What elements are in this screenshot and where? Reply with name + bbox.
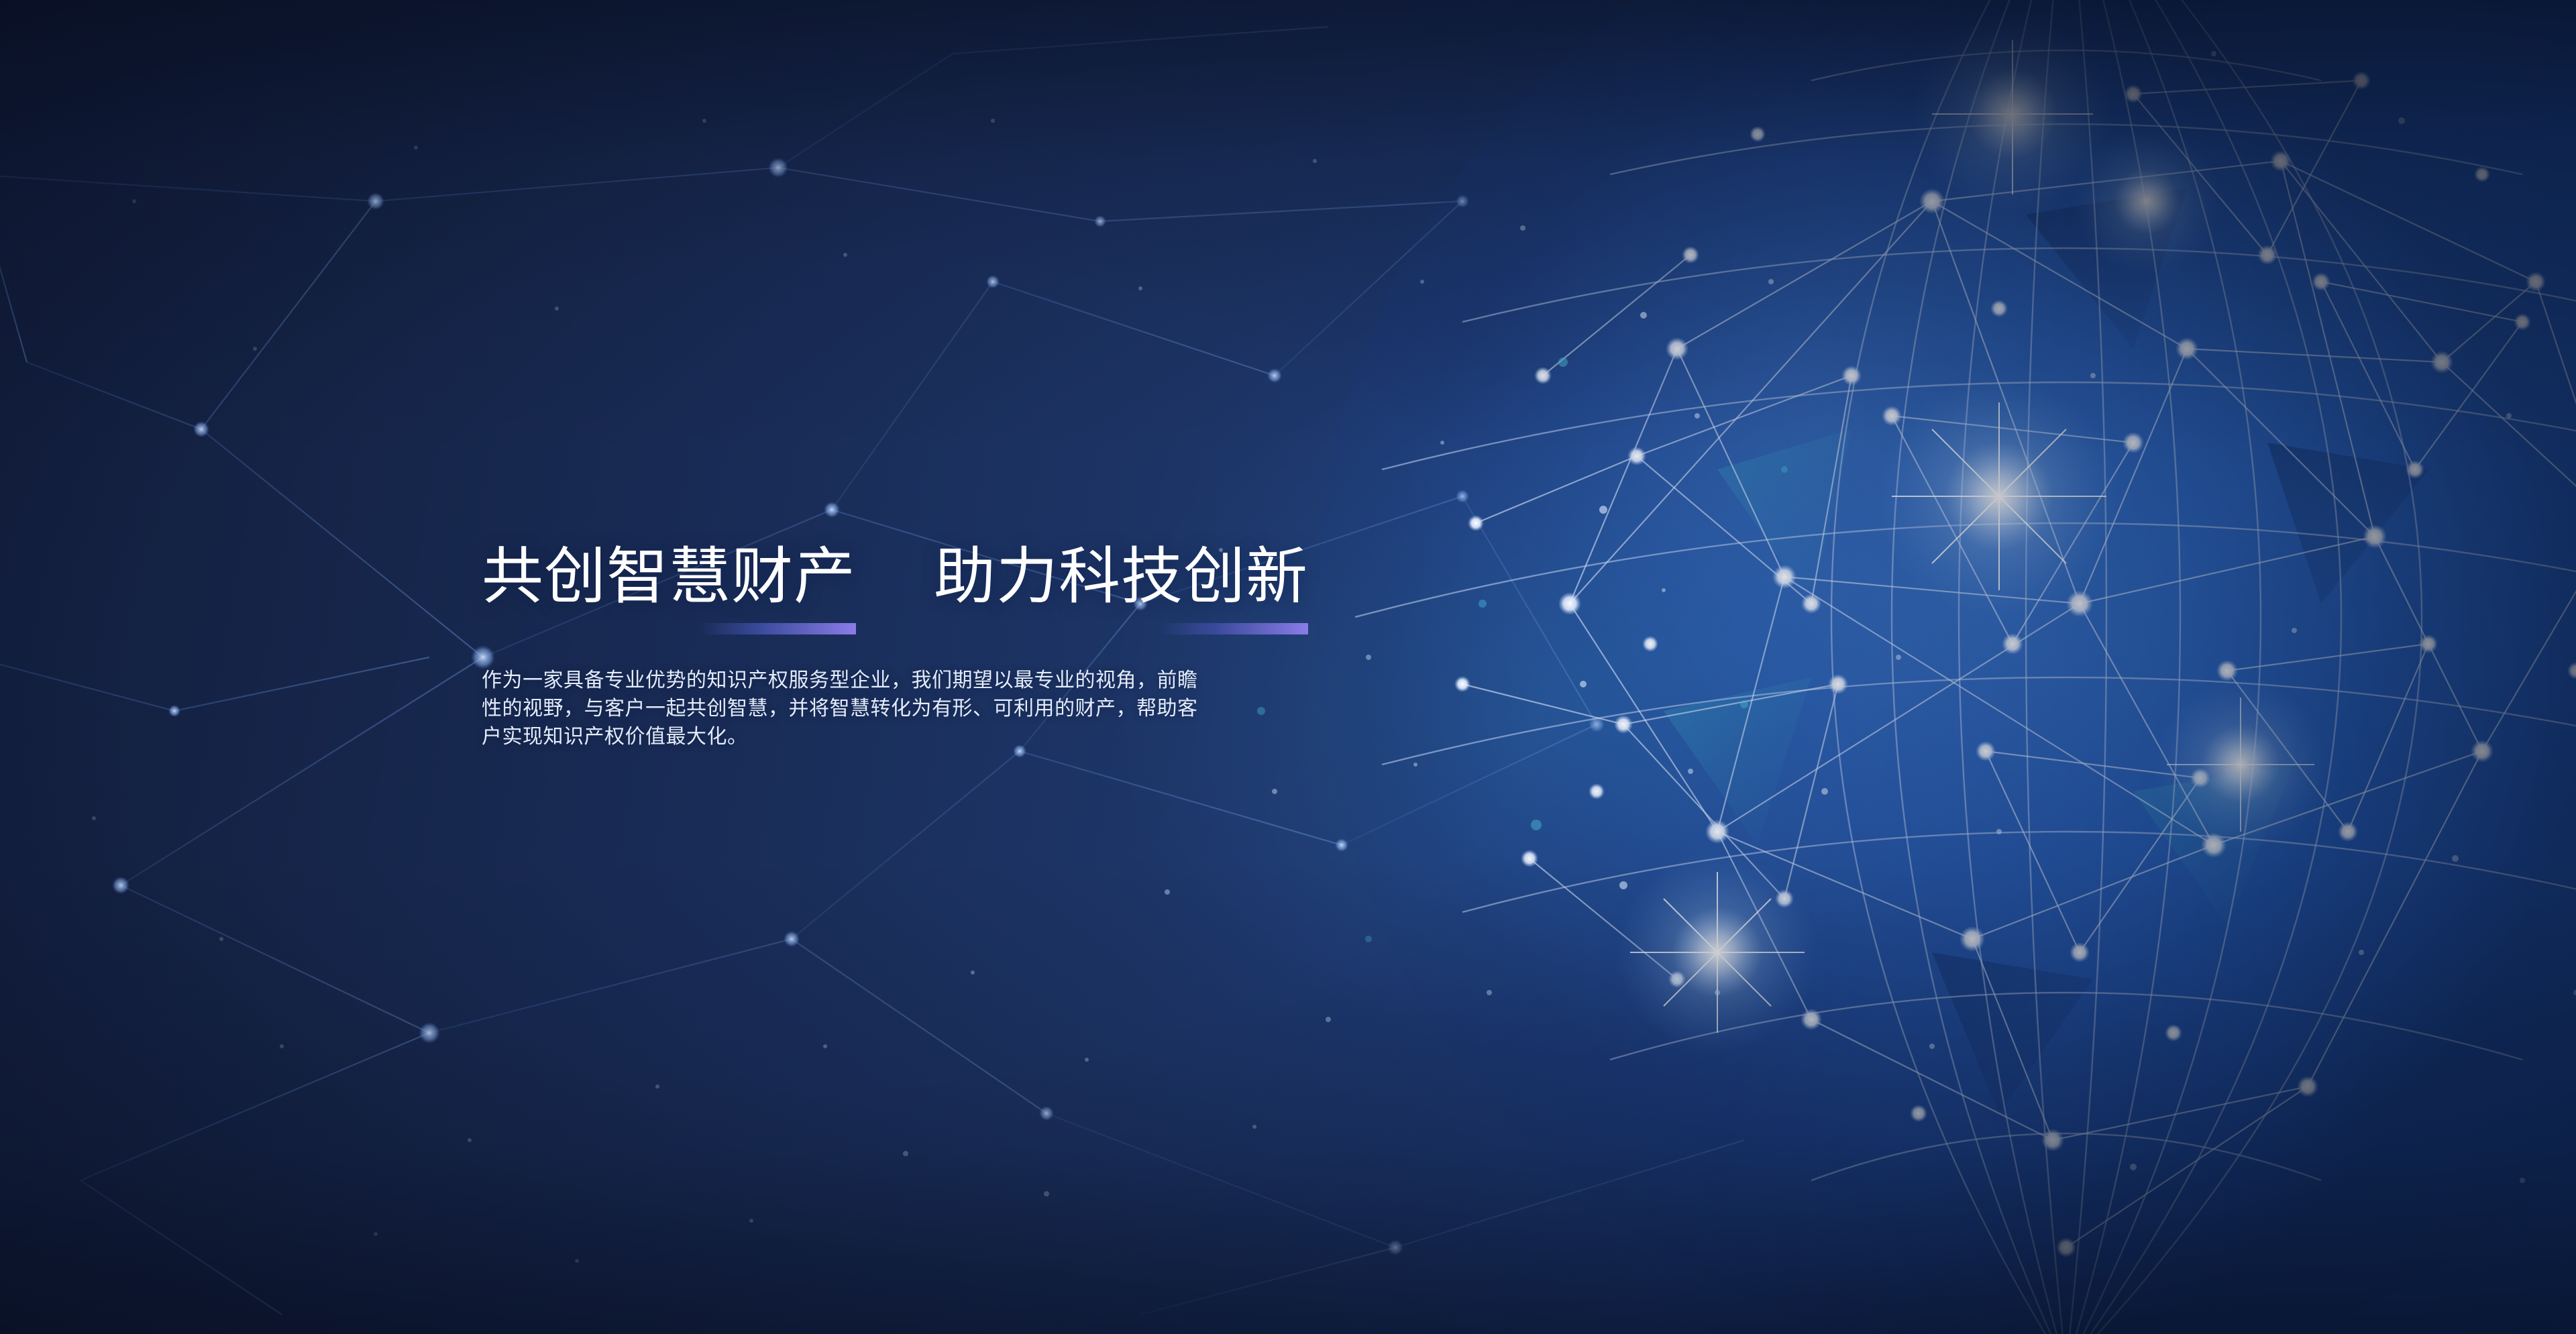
description-line-2: 性的视野，与客户一起共创智慧，并将智慧转化为有形、可利用的财产，帮助客	[482, 695, 1394, 723]
headline-segment-2-group: 助力科技创新	[934, 545, 1308, 610]
lens-flare-star	[1617, 13, 2328, 1053]
headline-accent-rule-2	[1159, 623, 1308, 634]
headline-segment-1: 共创智慧财产	[482, 545, 856, 610]
headline-segment-1-group: 共创智慧财产	[482, 545, 856, 610]
headline-accent-rule-1	[700, 623, 856, 634]
description-line-1: 作为一家具备专业优势的知识产权服务型企业，我们期望以最专业的视角，前瞻	[482, 667, 1394, 695]
hero-banner: 共创智慧财产 助力科技创新 作为一家具备专业优势的知识产权服务型企业，我们期望以…	[0, 0, 2576, 1334]
headline: 共创智慧财产 助力科技创新	[482, 545, 1407, 610]
hero-description: 作为一家具备专业优势的知识产权服务型企业，我们期望以最专业的视角，前瞻 性的视野…	[482, 667, 1394, 751]
headline-segment-2: 助力科技创新	[934, 545, 1308, 610]
description-line-3: 户实现知识产权价值最大化。	[482, 723, 1394, 751]
hero-copy-block: 共创智慧财产 助力科技创新 作为一家具备专业优势的知识产权服务型企业，我们期望以…	[482, 545, 1407, 751]
